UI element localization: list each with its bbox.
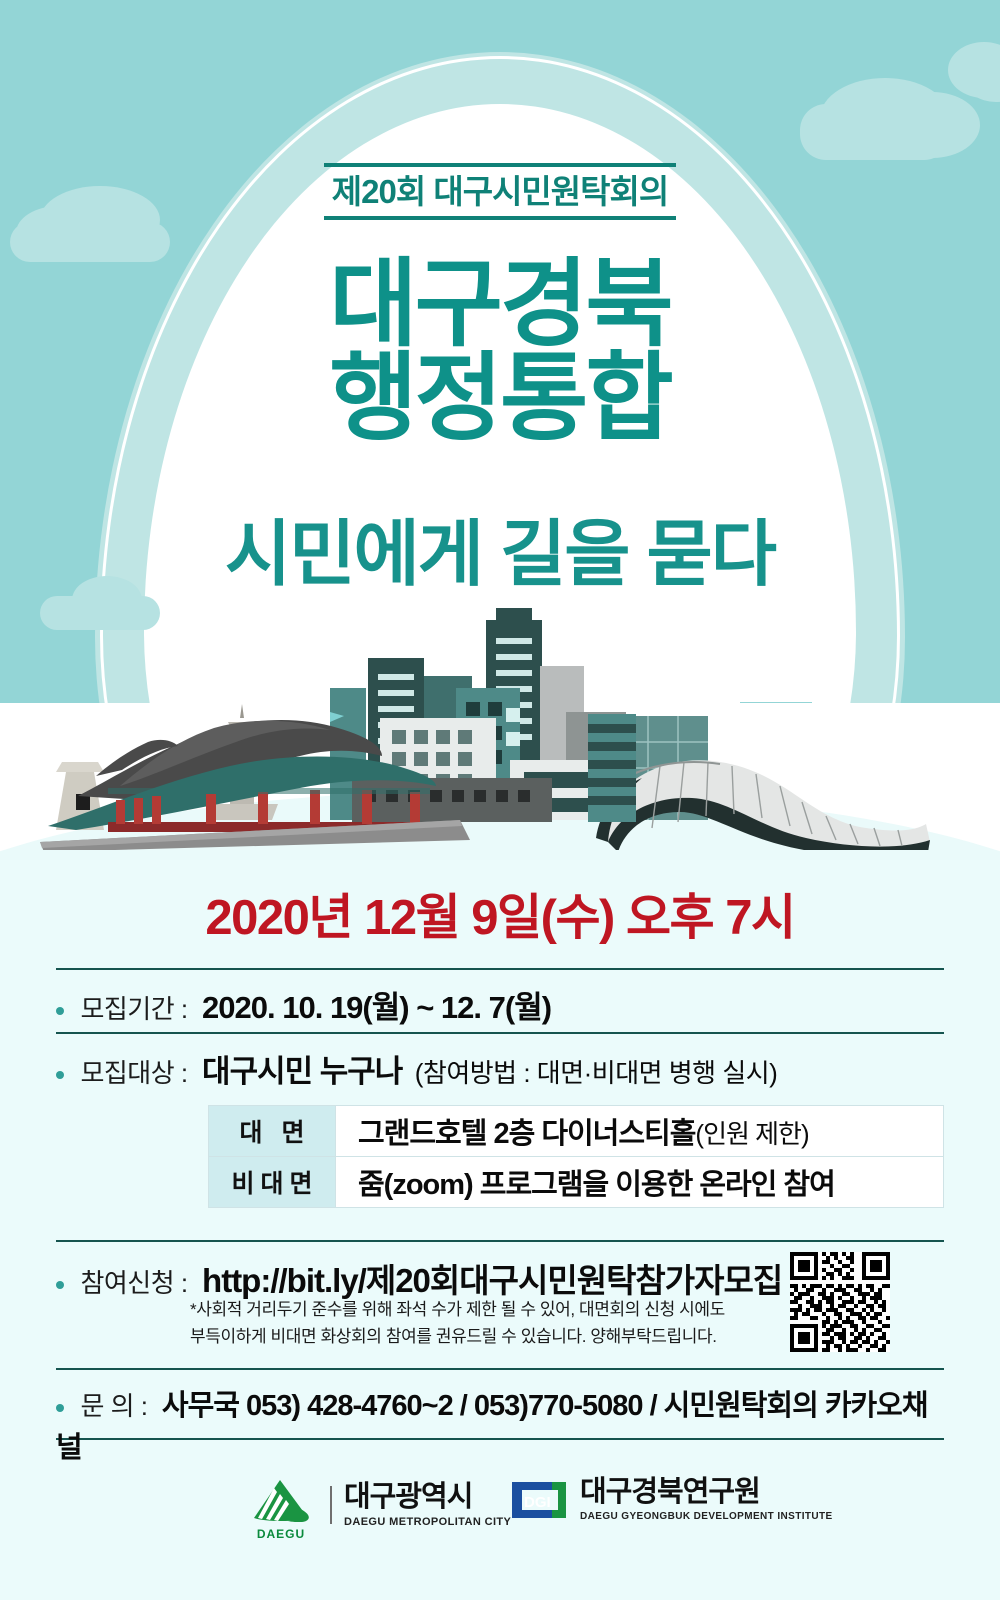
- apply-note-line-2: 부득이하게 비대면 화상회의 참여를 권유드릴 수 있습니다. 양해부탁드립니다…: [190, 1323, 810, 1350]
- divider-2: [56, 1032, 944, 1034]
- venue-mode-online: 비대면: [209, 1157, 336, 1208]
- dgi-logo-en: DAEGU GYEONGBUK DEVELOPMENT INSTITUTE: [580, 1511, 833, 1522]
- qr-code-icon: [790, 1252, 890, 1352]
- title-line-1: 대구경북: [0, 258, 1000, 352]
- bullet-icon: [56, 1071, 64, 1079]
- detail-row-contact: 문 의 : 사무국 053) 428-4760~2 / 053)770-5080…: [56, 1382, 944, 1466]
- dgi-bracket-icon: DGI: [508, 1478, 570, 1522]
- logo-dgi: DGI 대구경북연구원 DAEGU GYEONGBUK DEVELOPMENT …: [508, 1478, 833, 1522]
- contact-label: 문 의 :: [80, 1391, 147, 1421]
- venue-table: 대 면 그랜드호텔 2층 다이너스티홀(인원 제한) 비대면 줌(zoom) 프…: [208, 1105, 944, 1208]
- venue-place-offline-text: 그랜드호텔 2층 다이너스티홀: [358, 1118, 695, 1150]
- title-line-2: 행정통합: [0, 352, 1000, 446]
- kicker-rule-bottom: [324, 216, 676, 220]
- city-illustration-svg: [0, 590, 1000, 850]
- daegu-logo-ko: 대구광역시: [344, 1483, 511, 1512]
- divider-4: [56, 1368, 944, 1370]
- footer-logos: DAEGU 대구광역시 DAEGU METROPOLITAN CITY DGI …: [0, 1470, 1000, 1560]
- venue-place-offline-note: (인원 제한): [695, 1119, 808, 1149]
- table-row: 대 면 그랜드호텔 2층 다이너스티홀(인원 제한): [209, 1106, 944, 1157]
- target-label: 모집대상 :: [80, 1058, 187, 1088]
- daegu-logo-en: DAEGU METROPOLITAN CITY: [344, 1516, 511, 1528]
- city-illustration: [0, 590, 1000, 850]
- bullet-icon: [56, 1007, 64, 1015]
- logo-divider: [330, 1486, 332, 1524]
- bullet-icon: [56, 1281, 64, 1289]
- period-value: 2020. 10. 19(월) ~ 12. 7(월): [202, 990, 551, 1025]
- bullet-icon: [56, 1404, 64, 1412]
- cloud-icon: [10, 222, 170, 262]
- daegu-mountain-icon: [244, 1478, 318, 1522]
- apply-url[interactable]: http://bit.ly/제20회대구시민원탁참가자모집: [202, 1262, 782, 1299]
- period-label: 모집기간 :: [80, 994, 187, 1024]
- page-subtitle: 시민에게 길을 묻다: [0, 495, 1000, 600]
- kicker-block: 제20회 대구시민원탁회의: [0, 163, 1000, 220]
- cloud-icon: [800, 104, 950, 160]
- event-date: 2020년 12월 9일(수) 오후 7시: [0, 878, 1000, 949]
- kicker-text: 제20회 대구시민원탁회의: [0, 167, 1000, 216]
- logo-daegu-city: DAEGU 대구광역시 DAEGU METROPOLITAN CITY: [244, 1478, 511, 1532]
- apply-note-line-1: *사회적 거리두기 준수를 위해 좌석 수가 제한 될 수 있어, 대면회의 신…: [190, 1296, 810, 1323]
- divider-3: [56, 1240, 944, 1242]
- dgi-logo-ko: 대구경북연구원: [580, 1478, 833, 1507]
- target-value: 대구시민 누구나: [202, 1054, 402, 1089]
- detail-row-target: 모집대상 : 대구시민 누구나 (참여방법 : 대면·비대면 병행 실시): [56, 1046, 944, 1091]
- table-row: 비대면 줌(zoom) 프로그램을 이용한 온라인 참여: [209, 1157, 944, 1208]
- apply-note: *사회적 거리두기 준수를 위해 좌석 수가 제한 될 수 있어, 대면회의 신…: [190, 1296, 810, 1350]
- daegu-mark-text: DAEGU: [244, 1527, 318, 1541]
- venue-place-offline: 그랜드호텔 2층 다이너스티홀(인원 제한): [336, 1106, 944, 1157]
- page-title: 대구경북 행정통합: [0, 258, 1000, 446]
- target-value-note: (참여방법 : 대면·비대면 병행 실시): [415, 1058, 778, 1088]
- venue-place-online: 줌(zoom) 프로그램을 이용한 온라인 참여: [336, 1157, 944, 1208]
- venue-mode-offline: 대 면: [209, 1106, 336, 1157]
- qr-code[interactable]: [790, 1252, 890, 1352]
- divider-1: [56, 968, 944, 970]
- contact-value: 사무국 053) 428-4760~2 / 053)770-5080 / 시민원…: [56, 1390, 928, 1464]
- poster-root: 제20회 대구시민원탁회의 대구경북 행정통합 시민에게 길을 묻다: [0, 0, 1000, 1600]
- detail-row-period: 모집기간 : 2020. 10. 19(월) ~ 12. 7(월): [56, 982, 944, 1027]
- apply-label: 참여신청 :: [80, 1268, 187, 1298]
- svg-text:DGI: DGI: [524, 1494, 551, 1511]
